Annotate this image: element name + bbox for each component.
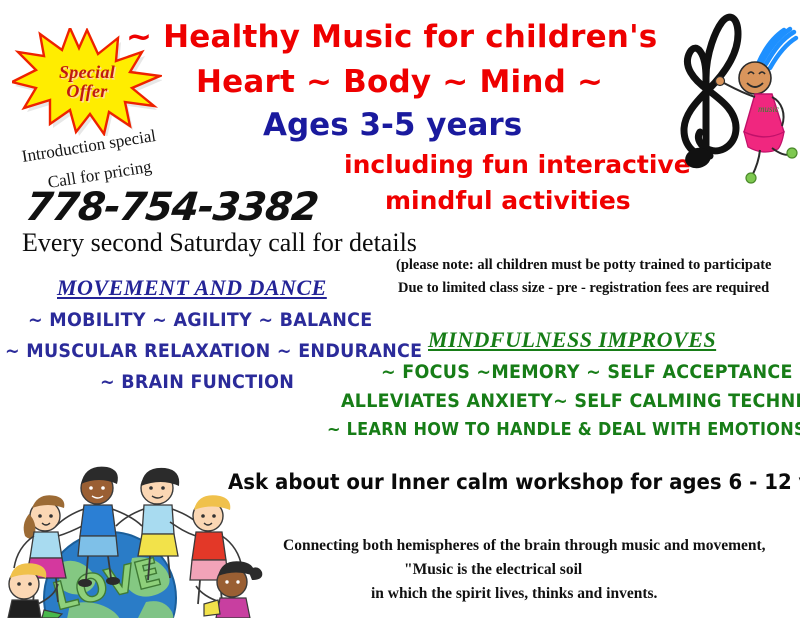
note-registration-fees: Due to limited class size - pre - regist… <box>398 281 769 296</box>
subhead-line-2: mindful activities <box>385 188 631 213</box>
schedule-line: Every second Saturday call for details <box>22 230 417 256</box>
mindfulness-item-1: ~ FOCUS ~MEMORY ~ SELF ACCEPTANCE <box>381 363 793 382</box>
movement-item-1: ~ MOBILITY ~ AGILITY ~ BALANCE <box>28 311 372 330</box>
workshop-ask-line: Ask about our Inner calm workshop for ag… <box>228 472 800 493</box>
children-globe-icon: LOVE <box>0 452 272 618</box>
subhead-line-1: including fun interactive <box>344 152 691 177</box>
note-potty-trained: (please note: all children must be potty… <box>396 258 772 273</box>
quote-line-2: "Music is the electrical soil <box>404 562 582 578</box>
headline-line-2: Heart ~ Body ~ Mind ~ <box>196 67 603 98</box>
movement-heading: MOVEMENT AND DANCE <box>57 277 327 299</box>
quote-line-3: in which the spirit lives, thinks and in… <box>371 586 657 602</box>
phone-number[interactable]: 778-754-3382 <box>24 188 320 227</box>
flyer-canvas: Special Offer Introduction special Call … <box>0 0 800 618</box>
treble-clef-dancing-girl-icon: music <box>660 4 800 184</box>
movement-item-3: ~ BRAIN FUNCTION <box>100 373 294 392</box>
headline-line-3-ages: Ages 3-5 years <box>263 110 522 141</box>
quote-line-1: Connecting both hemispheres of the brain… <box>283 538 766 554</box>
dress-text: music <box>758 104 779 114</box>
mindfulness-heading: MINDFULNESS IMPROVES <box>428 329 716 351</box>
movement-item-2: ~ MUSCULAR RELAXATION ~ ENDURANCE <box>5 342 422 361</box>
mindfulness-item-2: ALLEVIATES ANXIETY~ SELF CALMING TECHNIQ… <box>341 392 800 411</box>
treble-clef-icon <box>683 17 738 171</box>
headline-line-1: ~ Healthy Music for children's <box>126 22 657 53</box>
mindfulness-item-3: ~ LEARN HOW TO HANDLE & DEAL WITH EMOTIO… <box>327 422 800 440</box>
